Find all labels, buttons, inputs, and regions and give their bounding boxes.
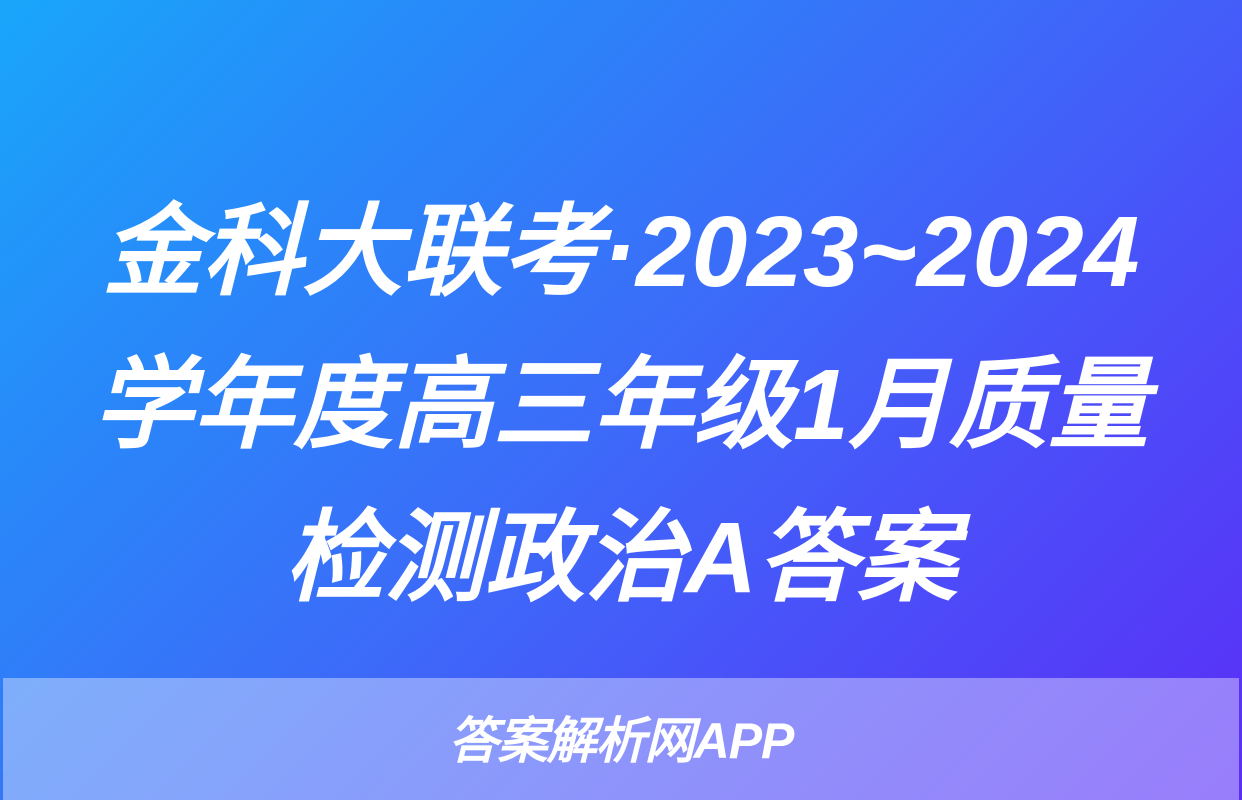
cover-card: 金科大联考·2023~2024 学年度高三年级1月质量 检测政治A答案 答案解析… (0, 0, 1242, 800)
watermark-band: 答案解析网APP (3, 678, 1239, 800)
page-title: 金科大联考·2023~2024 学年度高三年级1月质量 检测政治A答案 (0, 176, 1242, 635)
title-line-2: 学年度高三年级1月质量 (0, 329, 1242, 482)
title-line-3: 检测政治A答案 (0, 482, 1242, 635)
title-line-1: 金科大联考·2023~2024 (0, 176, 1242, 329)
watermark-label: 答案解析网APP (449, 716, 794, 766)
